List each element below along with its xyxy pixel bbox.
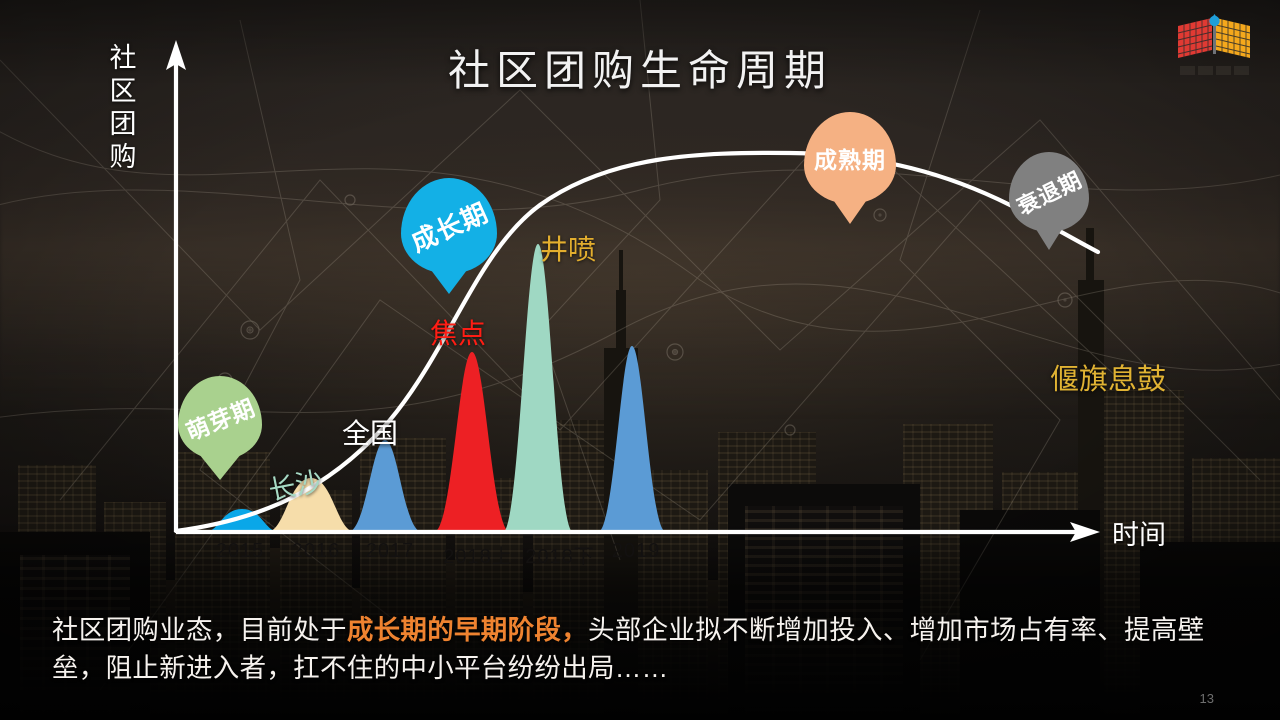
logo-red-panel [1178,18,1212,58]
x-tick-2019: 2019 [612,540,661,563]
x-axis-tick-labels: 2015 2016 2017 2018上 2018下 2019 [0,540,1280,570]
stage-pin-shuaitui[interactable]: 衰退期 [1009,152,1089,232]
logo-wordmark [1180,66,1249,75]
caption-part-1: 社区团购业态，目前处于 [52,615,347,645]
x-tick-2016: 2016 [292,540,341,563]
stage-pin-chengzhang[interactable]: 成长期 [401,178,497,274]
y-axis-char-4: 购 [100,141,146,174]
peak-2019 [598,346,666,532]
x-tick-2015: 2015 [216,540,265,563]
peak-label-jingpen: 井喷 [540,228,596,268]
x-tick-2018h2: 2018下 [525,540,595,569]
peak-2018h2 [503,244,573,532]
stage-pin-chengshu[interactable]: 成熟期 [804,112,896,204]
slide-caption: 社区团购业态，目前处于成长期的早期阶段，头部企业拟不断增加投入、增加市场占有率、… [52,612,1242,687]
x-tick-2017: 2017 [366,540,415,563]
y-axis-char-3: 团 [100,108,146,141]
pin-tail-shuaitui [1034,226,1064,250]
stage-pin-label-chengshu: 成熟期 [804,141,896,175]
page-title: 社区团购生命周期 [0,37,1280,98]
caption-highlight: 成长期的早期阶段， [347,615,588,645]
peak-2015 [205,509,279,532]
pin-tail-chengshu [829,194,871,224]
page-number: 13 [1200,691,1214,706]
peak-label-quanguo: 全国 [342,412,398,452]
slide-canvas: 萌芽期 成长期 成熟期 衰退期 长沙 全国 焦点 井喷 偃旗息鼓 社 区 团 购… [0,0,1280,720]
peak-label-yanqi: 偃旗息鼓 [1050,356,1166,398]
pin-tail-mengya [199,454,241,480]
peak-2018h1 [434,352,510,532]
peak-label-jiaodian: 焦点 [430,312,486,352]
x-tick-2018h1: 2018上 [443,540,513,569]
pin-tail-chengzhang [428,266,470,294]
logo-yellow-panel [1216,18,1250,58]
stage-pin-mengya[interactable]: 萌芽期 [178,376,262,460]
brand-logo-icon [1170,10,1262,78]
